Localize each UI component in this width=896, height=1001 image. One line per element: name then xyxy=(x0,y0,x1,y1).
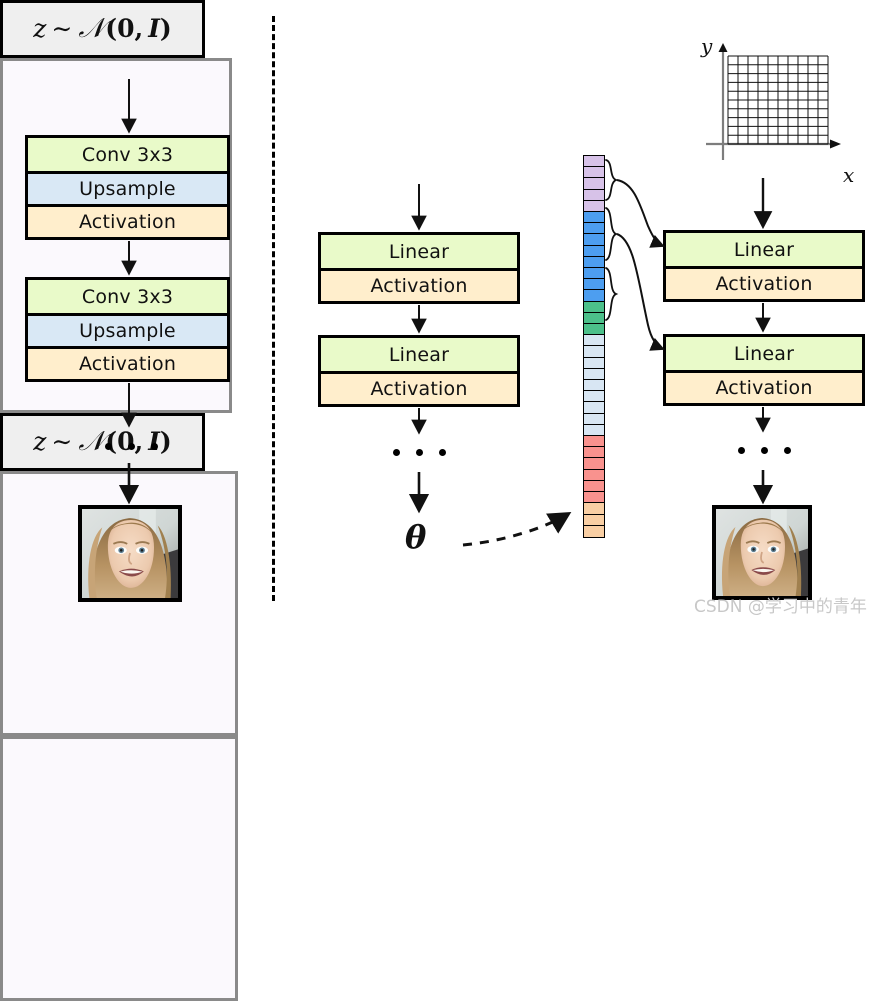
vector-cell xyxy=(584,526,604,537)
mlp-block-1: Linear Activation xyxy=(318,232,520,304)
latent-formula-left: z ∼ 𝒩(0, I) xyxy=(33,13,171,45)
vector-cell xyxy=(584,190,604,201)
vector-cell xyxy=(584,246,604,257)
vector-cell xyxy=(584,223,604,234)
theta-symbol: θ xyxy=(405,518,426,556)
vector-cell xyxy=(584,156,604,167)
layer-activation[interactable]: Activation xyxy=(666,266,862,299)
implicit-ellipsis xyxy=(738,446,791,454)
vector-cell xyxy=(584,458,604,469)
layer-activation[interactable]: Activation xyxy=(321,268,517,301)
figure-canvas: z ∼ 𝒩(0, I) Conv 3x3 Upsample Activation… xyxy=(0,0,896,621)
vector-cell xyxy=(584,414,604,425)
vector-cell xyxy=(584,470,604,481)
implicit-decoder-panel xyxy=(0,736,238,1001)
brace-3 xyxy=(606,268,616,320)
vector-cell xyxy=(584,481,604,492)
layer-activation[interactable]: Activation xyxy=(666,370,862,403)
brace-1 xyxy=(606,160,616,200)
vector-cell xyxy=(584,358,604,369)
layer-activation[interactable]: Activation xyxy=(321,371,517,404)
vector-cell xyxy=(584,290,604,301)
vector-cell xyxy=(584,167,604,178)
vector-cell xyxy=(584,447,604,458)
layer-upsample[interactable]: Upsample xyxy=(28,171,227,204)
layer-linear[interactable]: Linear xyxy=(666,337,862,370)
vector-cell xyxy=(584,324,604,335)
vector-cell xyxy=(584,234,604,245)
implicit-block-1: Linear Activation xyxy=(663,230,865,302)
vector-cell xyxy=(584,257,604,268)
vector-cell xyxy=(584,178,604,189)
arrow-theta-to-vector xyxy=(463,514,568,545)
mlp-block-2: Linear Activation xyxy=(318,335,520,407)
layer-linear[interactable]: Linear xyxy=(321,338,517,371)
vector-cell xyxy=(584,201,604,212)
layer-upsample[interactable]: Upsample xyxy=(28,313,227,346)
vector-cell xyxy=(584,503,604,514)
watermark: CSDN @学习中的青年 xyxy=(694,592,867,617)
vector-cell xyxy=(584,302,604,313)
generated-face-right xyxy=(716,509,808,596)
vector-cell xyxy=(584,436,604,447)
layer-activation[interactable]: Activation xyxy=(28,204,227,237)
latent-box-left: z ∼ 𝒩(0, I) xyxy=(0,0,205,58)
layer-conv3x3[interactable]: Conv 3x3 xyxy=(28,138,227,171)
layer-conv3x3[interactable]: Conv 3x3 xyxy=(28,280,227,313)
vector-cell xyxy=(584,369,604,380)
vector-cell xyxy=(584,425,604,436)
vector-cell xyxy=(584,346,604,357)
axis-label-y: y xyxy=(701,34,712,58)
latent-box-middle: z ∼ 𝒩(0, I) xyxy=(0,413,205,471)
layer-activation[interactable]: Activation xyxy=(28,346,227,379)
coordinate-grid-svg xyxy=(700,34,850,169)
connector-brace1-to-linear1 xyxy=(617,180,663,246)
vector-cell xyxy=(584,391,604,402)
layer-linear[interactable]: Linear xyxy=(321,235,517,268)
output-image-right xyxy=(712,505,812,600)
coordinate-grid xyxy=(700,34,850,169)
vector-cell xyxy=(584,515,604,526)
parameter-vector[interactable] xyxy=(583,155,605,538)
vector-cell xyxy=(584,268,604,279)
vector-cell xyxy=(584,402,604,413)
vector-cell xyxy=(584,279,604,290)
connector-brace3-to-next xyxy=(617,294,640,360)
vector-cell xyxy=(584,313,604,324)
conv-block-1: Conv 3x3 Upsample Activation xyxy=(25,135,230,240)
panel-divider xyxy=(272,16,275,601)
generated-face-left xyxy=(82,509,178,598)
layer-linear[interactable]: Linear xyxy=(666,233,862,266)
conv-block-2: Conv 3x3 Upsample Activation xyxy=(25,277,230,382)
connector-brace2-to-linear1 xyxy=(617,200,646,234)
connector-brace2-to-linear2 xyxy=(617,234,663,349)
conv-ellipsis xyxy=(105,442,158,450)
output-image-left xyxy=(78,505,182,602)
mlp-ellipsis xyxy=(393,448,446,456)
implicit-block-2: Linear Activation xyxy=(663,334,865,406)
vector-cell xyxy=(584,380,604,391)
axis-label-x: x xyxy=(843,163,854,187)
brace-2 xyxy=(606,208,616,260)
vector-cell xyxy=(584,212,604,223)
vector-cell xyxy=(584,492,604,503)
vector-cell xyxy=(584,335,604,346)
